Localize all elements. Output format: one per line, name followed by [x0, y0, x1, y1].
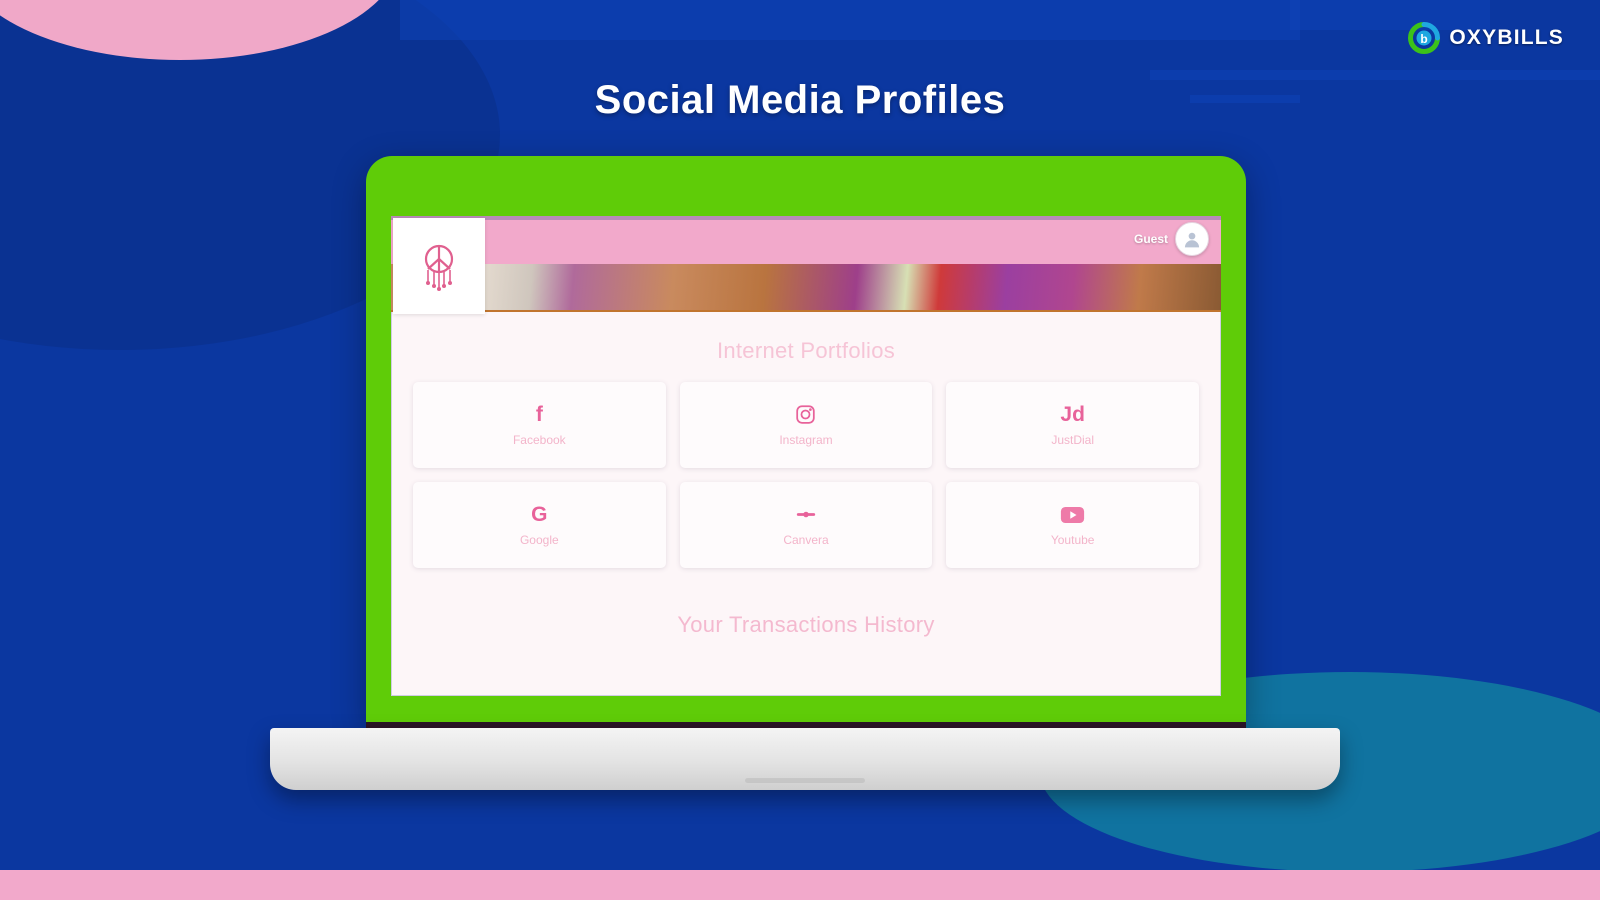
laptop-lid: Guest Internet Portfolios f Faceboo: [366, 156, 1246, 726]
app-header: Guest: [391, 216, 1221, 316]
page-title: Social Media Profiles: [0, 78, 1600, 123]
social-card-label: Google: [520, 533, 559, 547]
slide-canvas: b OXYBILLS Social Media Profiles: [0, 0, 1600, 900]
social-card-google[interactable]: G Google: [413, 482, 666, 568]
transactions-heading: Your Transactions History: [391, 568, 1221, 638]
laptop-base: [270, 728, 1340, 790]
laptop-trackpad-notch: [745, 778, 865, 783]
social-card-label: Instagram: [779, 433, 832, 447]
background-rect-1: [400, 0, 1300, 40]
brand-name: OXYBILLS: [1449, 26, 1564, 50]
justdial-icon: Jd: [1060, 404, 1085, 426]
google-icon: G: [531, 504, 547, 526]
brand-logo: b OXYBILLS: [1408, 22, 1564, 54]
social-card-instagram[interactable]: Instagram: [680, 382, 933, 468]
social-card-facebook[interactable]: f Facebook: [413, 382, 666, 468]
peace-dreamcatcher-logo-icon: [413, 239, 465, 293]
instagram-icon: [795, 404, 816, 426]
app-screen: Guest Internet Portfolios f Faceboo: [391, 216, 1221, 696]
social-cards-grid: f Facebook Instagram: [391, 382, 1221, 568]
decorative-bottom-strip: [0, 870, 1600, 900]
laptop-mockup: Guest Internet Portfolios f Faceboo: [270, 156, 1340, 796]
svg-text:b: b: [1421, 32, 1428, 46]
app-header-bar: [391, 216, 1221, 264]
facebook-icon: f: [536, 404, 543, 426]
user-menu[interactable]: Guest: [1134, 222, 1209, 256]
social-card-label: Youtube: [1051, 533, 1095, 547]
social-card-label: JustDial: [1051, 433, 1094, 447]
app-banner-image: [391, 264, 1221, 312]
social-card-label: Facebook: [513, 433, 566, 447]
social-card-canvera[interactable]: Canvera: [680, 482, 933, 568]
canvera-icon: [795, 504, 817, 526]
user-avatar-icon[interactable]: [1175, 222, 1209, 256]
social-card-label: Canvera: [783, 533, 828, 547]
oxybills-b-logo-icon: b: [1408, 22, 1440, 54]
social-card-justdial[interactable]: Jd JustDial: [946, 382, 1199, 468]
youtube-icon: [1060, 504, 1085, 526]
user-name: Guest: [1134, 232, 1168, 246]
app-logo[interactable]: [393, 218, 485, 314]
social-card-youtube[interactable]: Youtube: [946, 482, 1199, 568]
portfolios-heading: Internet Portfolios: [391, 316, 1221, 382]
